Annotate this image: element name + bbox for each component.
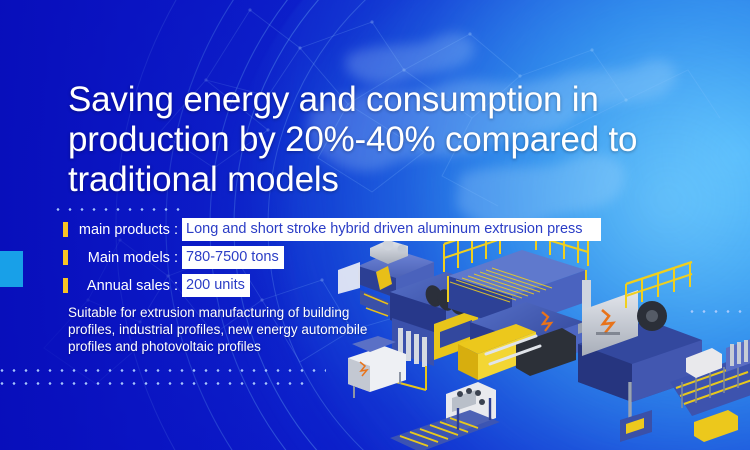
promo-banner: Saving energy and consumption in product… — [0, 0, 750, 450]
dotted-rule-top — [52, 208, 182, 211]
spec-value: Long and short stroke hybrid driven alum… — [182, 218, 601, 241]
spec-value: 780-7500 tons — [182, 246, 284, 269]
machine-foreground-puller — [390, 382, 500, 450]
page-title: Saving energy and consumption in product… — [68, 80, 668, 200]
dotted-rule-right — [686, 310, 750, 313]
spec-label: Main models : — [68, 250, 182, 266]
spec-list: main products : Long and short stroke hy… — [63, 218, 601, 302]
accent-square — [0, 251, 23, 287]
description-text: Suitable for extrusion manufacturing of … — [68, 304, 398, 355]
spec-label: main products : — [68, 222, 182, 238]
dotted-rule-middle — [0, 369, 326, 372]
spec-label: Annual sales : — [68, 278, 182, 294]
spec-row: Annual sales : 200 units — [63, 274, 601, 297]
spec-value: 200 units — [182, 274, 250, 297]
dotted-rule-bottom — [0, 382, 306, 385]
spec-row: main products : Long and short stroke hy… — [63, 218, 601, 241]
spec-row: Main models : 780-7500 tons — [63, 246, 601, 269]
